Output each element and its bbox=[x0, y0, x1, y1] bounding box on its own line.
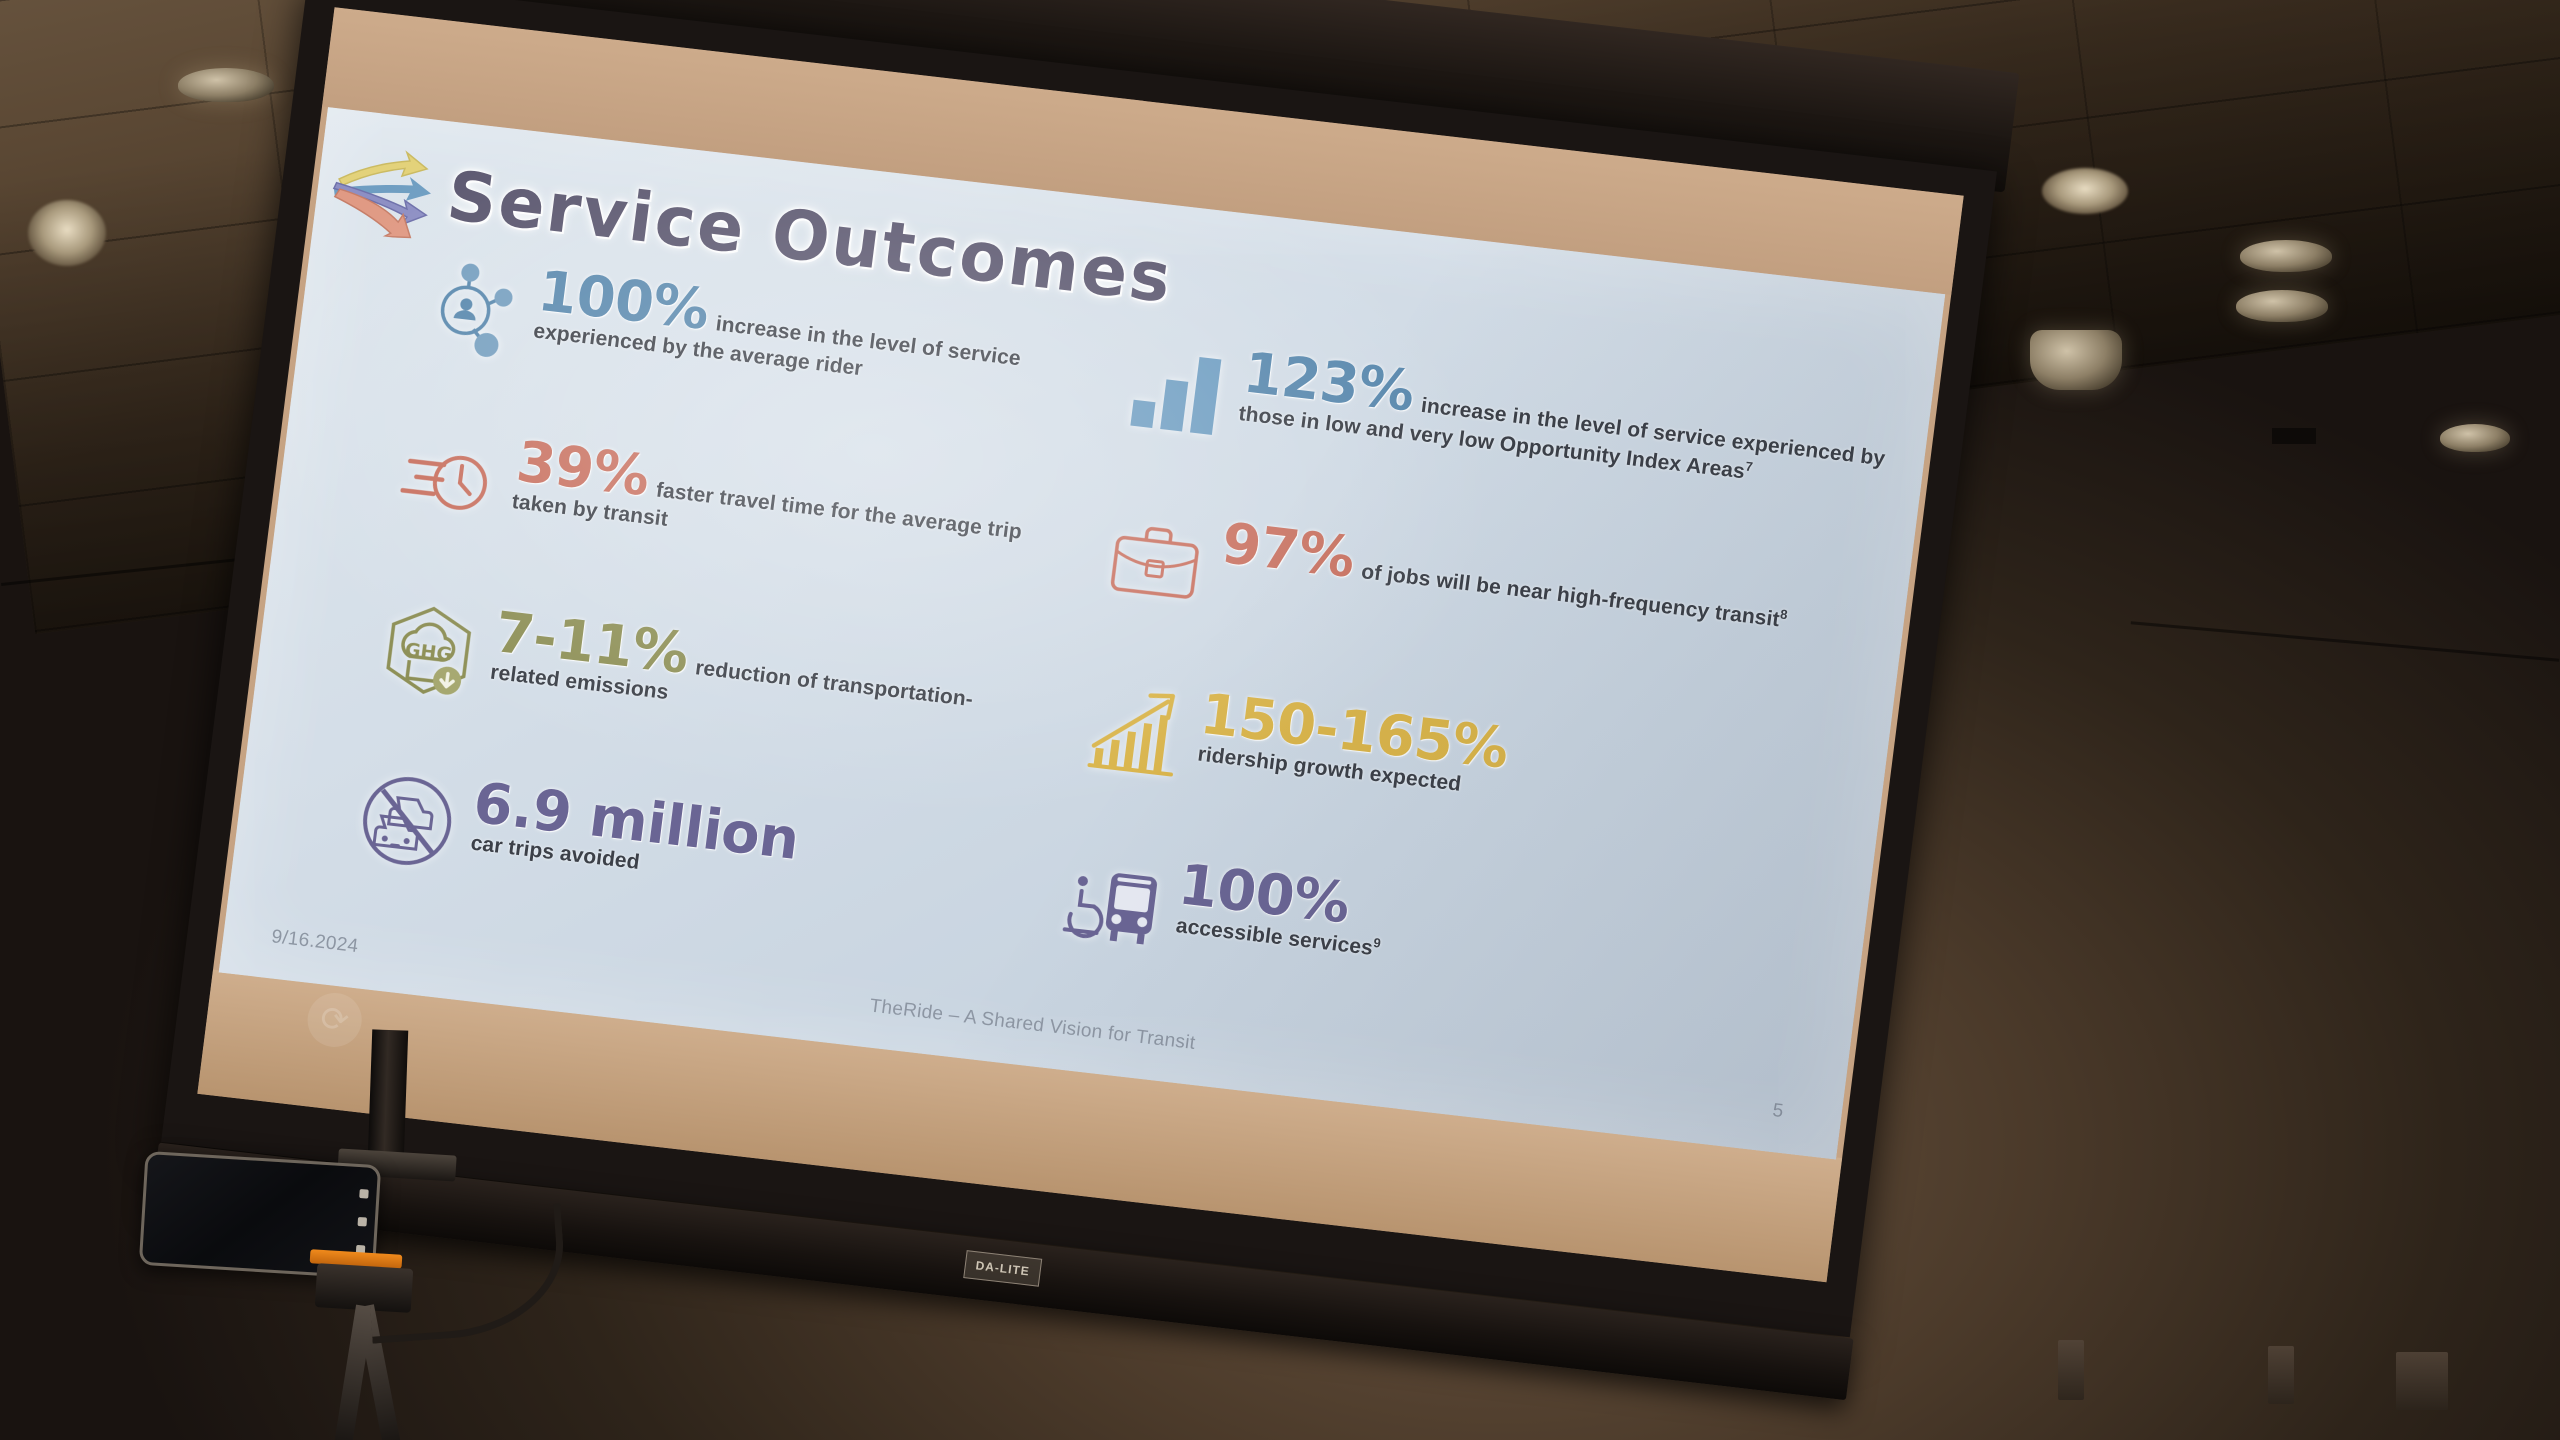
stat-description-text: of jobs will be near high-frequency tran… bbox=[1360, 560, 1781, 631]
stat-value: 97% bbox=[1218, 511, 1358, 591]
projected-slide: Service Outcomes bbox=[219, 107, 1946, 1159]
stat-footnote: 8 bbox=[1779, 607, 1788, 623]
ceiling-track-light bbox=[178, 68, 274, 102]
stat-footnote: 7 bbox=[1745, 458, 1754, 474]
left-column: 100%increase in the level of service exp… bbox=[345, 248, 1067, 1004]
screen-watermark: ⟳ bbox=[304, 990, 364, 1050]
ceiling-vent bbox=[2272, 428, 2316, 444]
footer-date: 9/16.2024 bbox=[270, 926, 359, 958]
phone-side-button[interactable] bbox=[359, 1189, 369, 1199]
tripod-upper-post bbox=[368, 1029, 409, 1160]
speed-clock-icon bbox=[397, 427, 504, 533]
ceiling-track-light bbox=[2236, 290, 2328, 322]
wall-outlet-plate bbox=[2058, 1340, 2084, 1400]
wall-outlet-plate bbox=[2268, 1346, 2294, 1404]
stat-footnote: 9 bbox=[1373, 935, 1382, 951]
briefcase-icon bbox=[1102, 508, 1209, 614]
screen-surface: ⟳ Service Outcomes bbox=[197, 7, 1963, 1282]
stat-body: 123%increase in the level of service exp… bbox=[1237, 342, 1891, 501]
ceiling-track-light bbox=[2440, 424, 2510, 452]
accessible-bus-icon bbox=[1059, 849, 1166, 955]
charging-cable bbox=[364, 1203, 569, 1343]
bar-chart-icon bbox=[1123, 338, 1230, 444]
growth-chart-arrow-icon bbox=[1080, 679, 1187, 785]
wall-outlet-plate bbox=[2396, 1352, 2448, 1410]
right-column: 123%increase in the level of service exp… bbox=[1050, 330, 1891, 1100]
screen-frame: ⟳ Service Outcomes bbox=[161, 0, 1997, 1337]
phone-tripod-rig bbox=[120, 1140, 580, 1440]
stat-description: of jobs will be near high-frequency tran… bbox=[1360, 560, 1788, 632]
footer-page-number: 5 bbox=[1771, 1100, 1785, 1123]
ceiling-track-light bbox=[2240, 240, 2332, 272]
no-car-traffic-icon bbox=[353, 768, 460, 874]
theride-converging-arrows-logo bbox=[327, 135, 446, 243]
ghg-emissions-down-icon: GHG bbox=[375, 597, 482, 703]
screen-brand-badge: DA-LITE bbox=[963, 1250, 1042, 1287]
conference-room-photo: ⟳ Service Outcomes bbox=[0, 0, 2560, 1440]
person-network-node-icon bbox=[418, 256, 525, 362]
ceiling-down-light bbox=[28, 200, 106, 266]
svg-text:GHG: GHG bbox=[404, 639, 454, 666]
